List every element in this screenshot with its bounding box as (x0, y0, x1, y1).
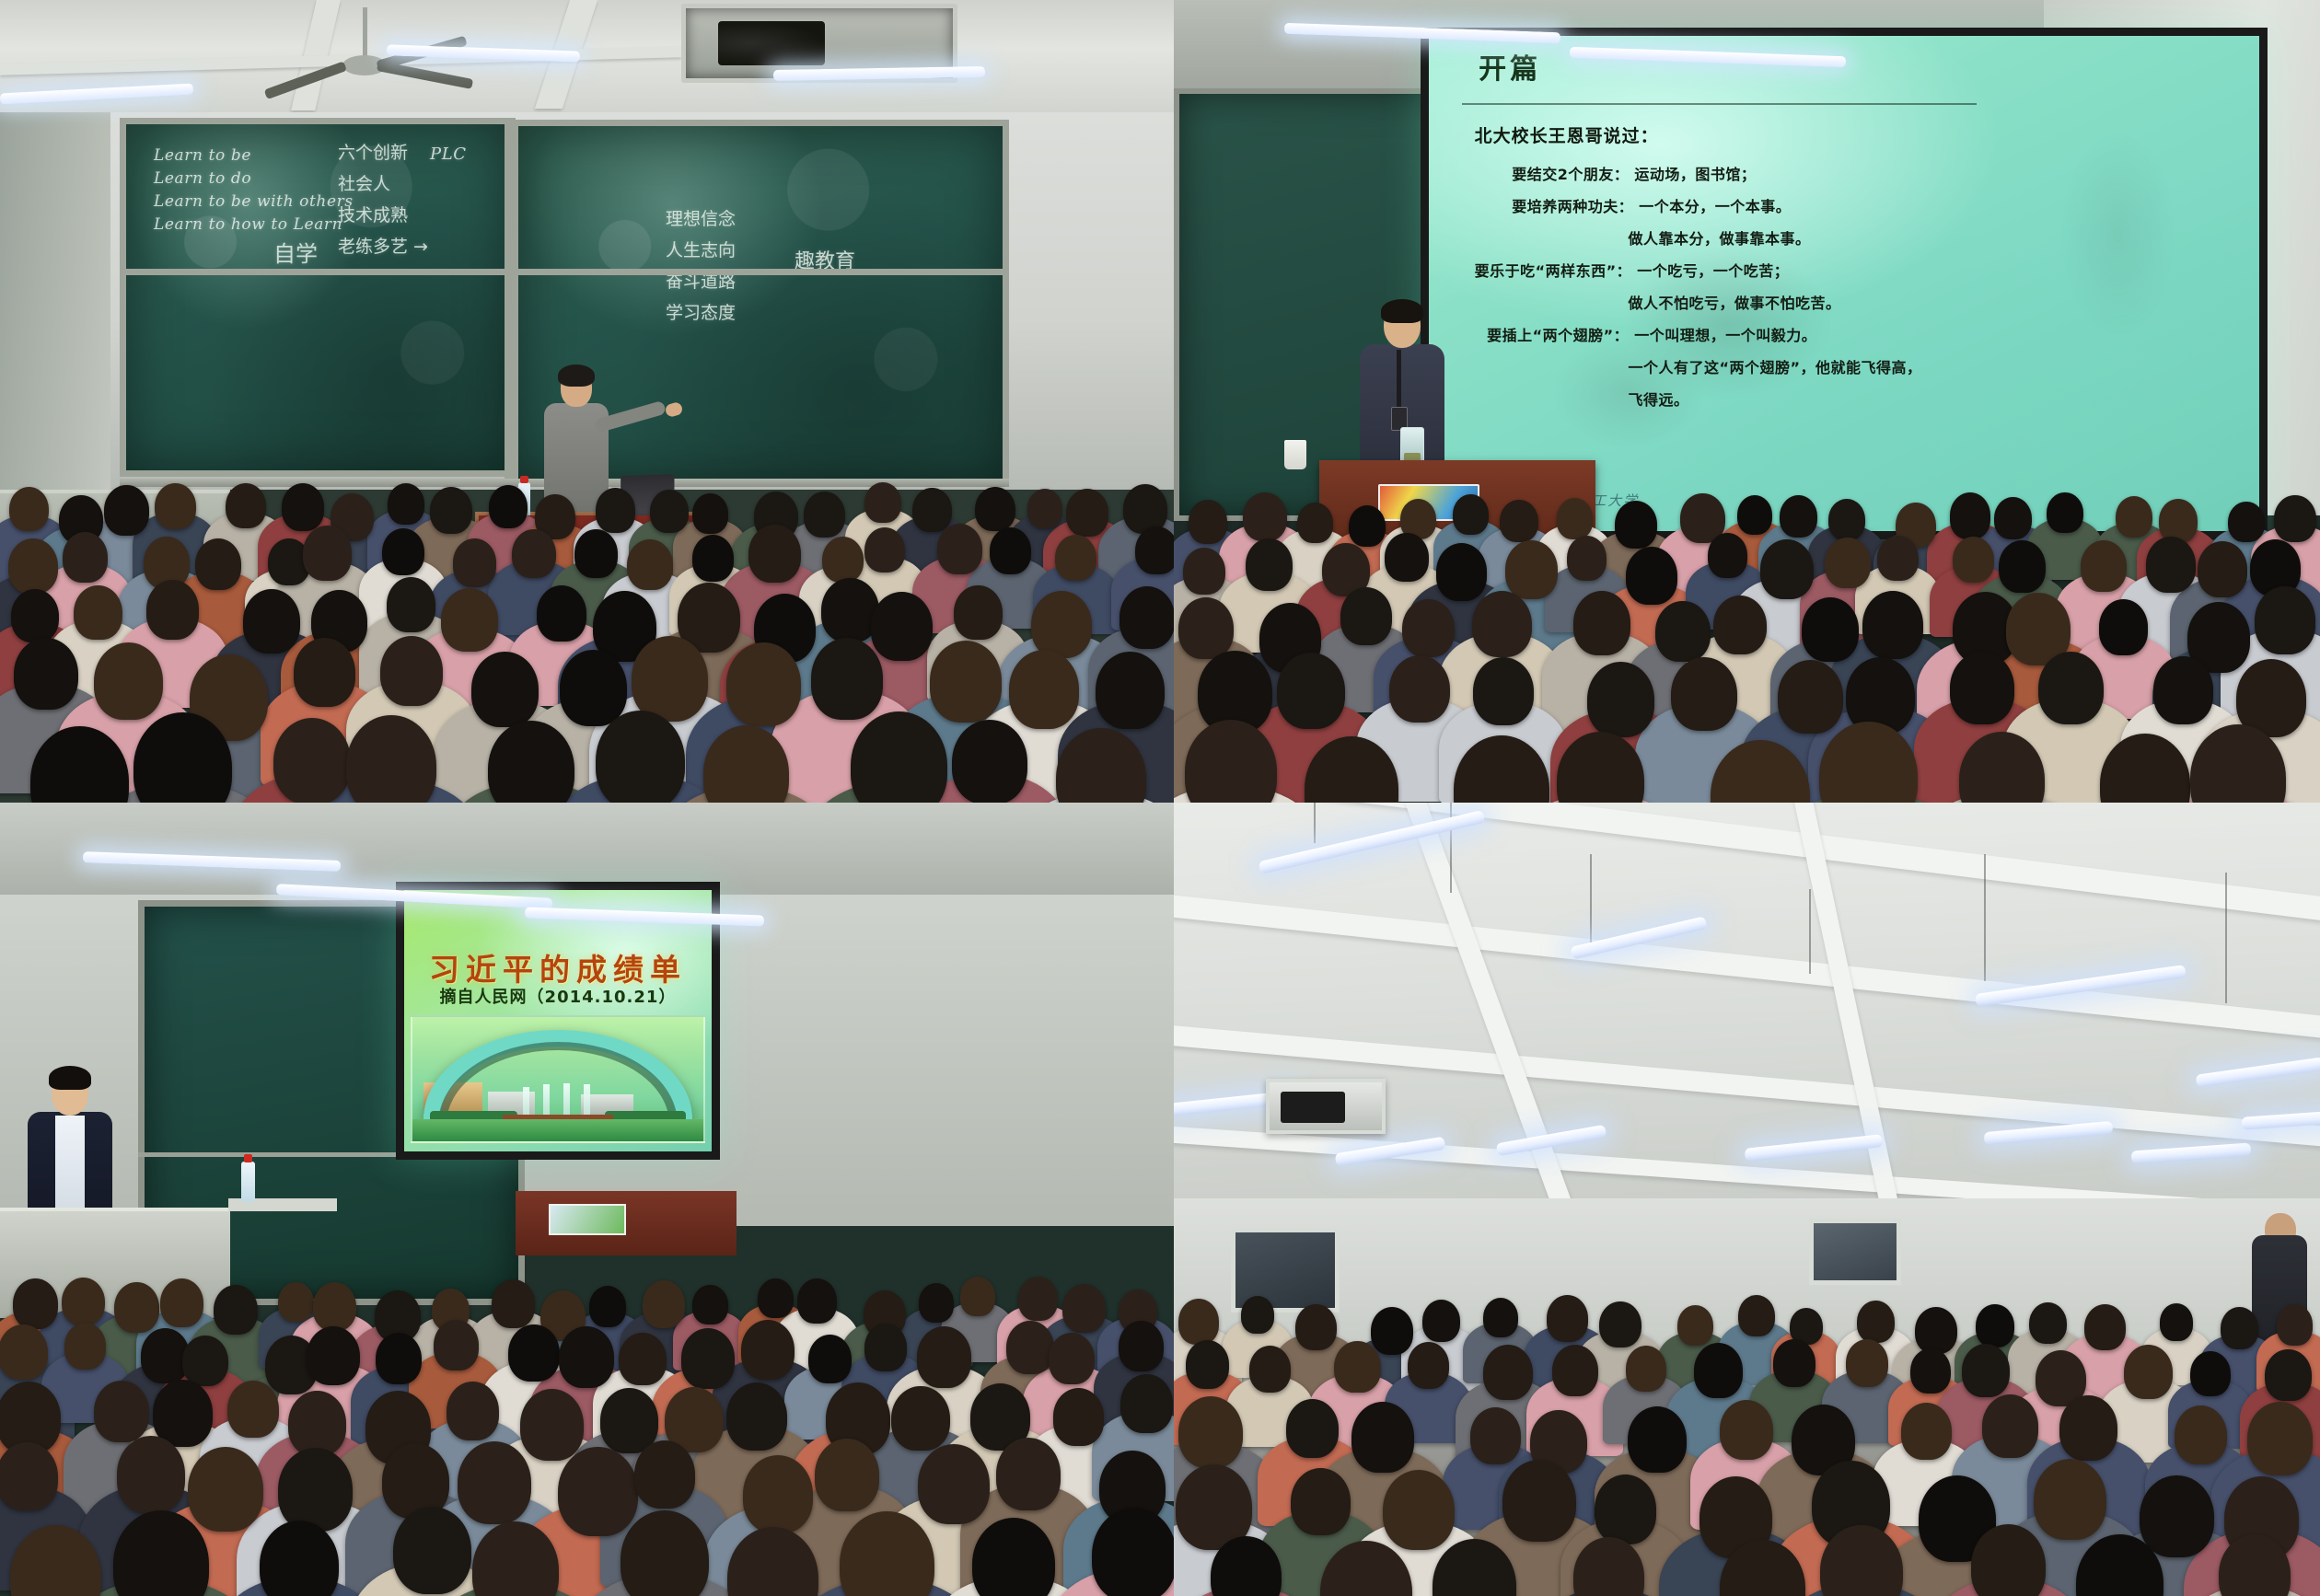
audience-member-head (2038, 652, 2104, 725)
board-frame-midrail (120, 269, 1009, 275)
audience-member-head (1027, 489, 1062, 528)
audience-member-head (153, 1380, 212, 1446)
audience-crowd (0, 1283, 1174, 1596)
audience-member-head (2247, 1402, 2314, 1475)
panel-bottom-right (1174, 803, 2320, 1596)
audience-member-head (1383, 1470, 1455, 1550)
audience-member-head (14, 638, 78, 710)
audience-member-head (1901, 1403, 1952, 1460)
audience-member-head (430, 487, 472, 535)
slide-line-5: 做人不怕吃亏，做事不怕吃苦。 (1628, 291, 1840, 313)
audience-member-head (441, 588, 498, 652)
audience-member-head (726, 642, 801, 725)
audience-member-head (2084, 1304, 2126, 1350)
audience-member-head (273, 718, 351, 803)
slide-line-7: 一个人有了这“两个翅膀”，他就能飞得高， (1628, 355, 1921, 377)
audience-member-head (2228, 502, 2265, 542)
audience-member-head (1760, 539, 1814, 599)
audience-member-head (1297, 503, 1334, 543)
audience-member-head (453, 538, 496, 586)
audience-member-head (864, 527, 905, 572)
audience-member-head (1178, 1299, 1219, 1345)
audience-member-head (891, 1386, 949, 1451)
audience-member-head (155, 483, 196, 529)
audience-member-head (243, 589, 300, 653)
audience-member-head (743, 1455, 813, 1533)
audience-member-head (558, 1447, 638, 1536)
audience-member-head (996, 1438, 1061, 1510)
audience-member-head (1877, 536, 1918, 581)
audience-member-head (1694, 1343, 1743, 1398)
audience-member-head (160, 1278, 203, 1327)
audience-member-head (188, 1447, 263, 1532)
audience-member-head (1671, 657, 1737, 731)
slide-line-4: 要乐于吃“两样东西”： 一个吃亏，一个吃苦； (1475, 259, 1790, 281)
audience-member-head (758, 1278, 794, 1318)
audience-member-head (2116, 496, 2152, 538)
audience-member-head (94, 1381, 149, 1442)
audience-member-head (1189, 500, 1228, 544)
audience-member-head (912, 488, 952, 532)
audience-member-head (1006, 1321, 1054, 1374)
audience-member-head (2265, 1349, 2311, 1401)
audience-member-head (387, 577, 436, 632)
audience-member-head (1186, 1340, 1229, 1388)
audience-member-head (726, 1382, 787, 1451)
slide-line-6: 要插上“两个翅膀”： 一个叫理想，一个叫毅力。 (1487, 323, 1816, 345)
audience-member-head (1557, 498, 1594, 539)
audience-member-head (1286, 1399, 1339, 1458)
audience-member-head (63, 532, 108, 583)
audience-member-head (2034, 1459, 2106, 1541)
audience-member-head (1453, 494, 1489, 534)
photo-collage: Learn to be Learn to do Learn to be with… (0, 0, 2320, 1596)
audience-member-head (1915, 1307, 1957, 1354)
panel-top-right: 开篇 北大校长王恩哥说过： 要结交2个朋友： 运动场，图书馆； 要培养两种功夫：… (1174, 0, 2320, 803)
audience-member-head (2059, 1395, 2118, 1461)
audience-member-head (1573, 591, 1630, 655)
slide-campus-photo (411, 1015, 706, 1143)
audience-member-head (918, 1444, 990, 1524)
slide-content: 开篇 北大校长王恩哥说过： 要结交2个朋友： 运动场，图书馆； 要培养两种功夫：… (1429, 36, 2259, 531)
audience-member-head (0, 1442, 58, 1510)
audience-member-head (1994, 497, 2032, 539)
audience-member-head (1950, 652, 2014, 724)
audience-member-head (1249, 1346, 1291, 1393)
audience-member-head (1402, 599, 1455, 657)
audience-member-head (537, 585, 586, 641)
audience-member-head (0, 1324, 48, 1380)
slide-lead-line: 北大校长王恩哥说过： (1475, 122, 1659, 147)
audience-member-head (1626, 1346, 1666, 1392)
audience-member-head (1049, 1333, 1095, 1384)
audience-member-head (1505, 540, 1558, 598)
audience-member-head (226, 483, 266, 528)
audience-member-head (1677, 1305, 1714, 1347)
audience-member-head (214, 1285, 258, 1335)
audience-member-head (808, 1335, 852, 1383)
audience-member-head (2081, 540, 2127, 592)
audience-member-head (2153, 656, 2214, 723)
audience-member-head (1009, 650, 1080, 729)
slide-title: 开篇 (1479, 46, 1541, 87)
audience-member-head (1595, 1475, 1656, 1544)
audience-member-head (1473, 657, 1535, 726)
audience-member-head (990, 527, 1031, 574)
slide-subtitle: 摘自人民网（2014.10.21） (404, 984, 712, 1008)
audience-member-head (741, 1320, 795, 1380)
audience-member-head (1483, 1298, 1519, 1337)
audience-member-head (508, 1324, 560, 1382)
audience-member-head (307, 1326, 360, 1386)
audience-member-head (1599, 1301, 1641, 1348)
audience-member-head (294, 638, 355, 707)
audience-member-head (1389, 655, 1450, 723)
audience-member-head (1277, 653, 1345, 729)
chalk-cn-r4: 老练多艺 → (338, 235, 428, 259)
audience-member-head (937, 524, 982, 574)
audience-member-head (382, 528, 424, 575)
audience-member-head (1846, 1339, 1889, 1387)
audience-member-head (1738, 1295, 1775, 1336)
photo-lawn (412, 1119, 704, 1141)
audience-member-head (520, 1389, 584, 1460)
audience-member-head (596, 711, 685, 803)
chalk-center-2: 人生志向 (666, 238, 736, 262)
audience-member-head (471, 652, 539, 726)
audience-member-head (1737, 495, 1772, 534)
audience-member-head (1587, 662, 1654, 737)
audience-member-head (619, 1333, 666, 1386)
slide-title: 习近平的成绩单 (404, 945, 712, 989)
audience-member-head (1828, 499, 1865, 540)
side-wall (0, 112, 110, 499)
audience-member-head (960, 1277, 995, 1316)
audience-member-head (681, 1328, 736, 1389)
audience-member-head (1334, 1341, 1381, 1394)
audience-member-head (1802, 597, 1859, 661)
chalk-line-en-3: Learn to be with others (154, 191, 354, 214)
audience-member-head (434, 1320, 479, 1370)
audience-member-head (1295, 1304, 1337, 1350)
audience-member-head (489, 485, 528, 528)
audience-member-head (288, 1391, 346, 1456)
audience-member-head (1825, 538, 1871, 589)
audience-member-head (1862, 591, 1922, 658)
audience-member-head (1092, 1508, 1174, 1596)
audience-member-head (643, 1280, 685, 1328)
slide-divider-rule (1462, 103, 1977, 105)
chalk-self-study: 自学 (273, 242, 318, 266)
paper-cup (1284, 440, 1306, 469)
chalk-center-4: 学习态度 (666, 301, 736, 325)
audience-member-head (458, 1441, 532, 1524)
audience-member-head (1720, 1400, 1773, 1460)
audience-member-head (1096, 652, 1165, 729)
audience-member-head (64, 1323, 106, 1370)
chalk-line-en-1: Learn to be (154, 145, 251, 168)
blackboard-left: Learn to be Learn to do Learn to be with… (120, 118, 516, 477)
audience-member-head (1408, 1342, 1449, 1388)
audience-member-head (2255, 586, 2315, 654)
audience-member-head (2274, 495, 2315, 542)
audience-member-head (632, 636, 708, 722)
audience-member-head (954, 585, 1003, 640)
audience-member-head (278, 1282, 314, 1322)
audience-member-head (1120, 1374, 1173, 1433)
ceiling-fan-rod (363, 7, 367, 61)
audience-member-head (2160, 1303, 2194, 1341)
audience-member-head (1055, 535, 1096, 581)
window (1809, 1219, 1901, 1285)
audience-member-head (1953, 537, 1994, 584)
audience-member-head (589, 1286, 626, 1327)
audience-member-head (1615, 501, 1657, 549)
audience-member-head (627, 539, 673, 591)
audience-member-head (1243, 492, 1287, 541)
audience-member-head (1291, 1468, 1351, 1535)
audience-member-head (871, 592, 933, 661)
audience-member-head (1950, 492, 1991, 538)
audience-member-head (393, 1507, 471, 1594)
ceiling-mounted-projector (1266, 1079, 1386, 1134)
audience-member-head (559, 1326, 614, 1388)
audience-member-head (2190, 1351, 2231, 1396)
audience-member-head (919, 1283, 954, 1323)
audience-member-head (748, 525, 800, 583)
audience-member-head (1018, 1277, 1058, 1321)
audience-member-head (574, 529, 618, 578)
audience-member-head (1655, 601, 1710, 662)
audience-member-head (811, 638, 884, 719)
audience-member-head (492, 1279, 535, 1328)
audience-member-head (1053, 1388, 1104, 1445)
audience-member-head (1780, 495, 1817, 538)
audience-member-head (1472, 591, 1532, 658)
audience-member-head (804, 492, 845, 538)
audience-member-head (388, 483, 424, 525)
audience-member-head (692, 535, 734, 582)
chalk-cn-r3: 技术成熟 (338, 203, 408, 227)
audience-member-head (1470, 1407, 1521, 1463)
audience-member-head (195, 538, 241, 590)
host (28, 1071, 112, 1226)
audience-member-head (864, 1324, 907, 1370)
audience-member-head (227, 1381, 278, 1438)
water-bottle (241, 1162, 255, 1202)
audience-member-head (692, 1285, 727, 1324)
audience-member-head (1371, 1307, 1413, 1355)
audience-member-head (104, 485, 149, 535)
audience-member-head (282, 483, 324, 531)
audience-member-head (634, 1440, 695, 1509)
audience-member-head (94, 642, 163, 720)
audience-member-head (62, 1278, 105, 1326)
audience-member-head (2124, 1345, 2173, 1399)
audience-member-head (952, 720, 1027, 803)
audience-member-head (1500, 500, 1537, 542)
audience-member-head (1351, 1402, 1415, 1473)
audience-member-head (1976, 1304, 2014, 1347)
audience-member-head (1999, 540, 2045, 593)
audience-member-head (2277, 1304, 2313, 1345)
panel-top-left: Learn to be Learn to do Learn to be with… (0, 0, 1174, 803)
audience-crowd (1174, 499, 2320, 803)
audience-member-head (117, 1436, 186, 1513)
audience-member-head (278, 1448, 353, 1532)
audience-member-head (1031, 591, 1092, 658)
audience-member-head (1349, 505, 1386, 547)
audience-member-head (1910, 1348, 1951, 1394)
audience-member-head (2198, 541, 2248, 597)
audience-member-head (13, 1278, 58, 1329)
audience-member-head (1066, 489, 1108, 536)
audience-member-head (1982, 1394, 2038, 1457)
audience-member-head (1708, 533, 1747, 577)
audience-member-head (1241, 1296, 1275, 1334)
audience-member-head (1436, 543, 1488, 600)
lecture-podium (516, 1191, 737, 1255)
audience-member-head (376, 1333, 422, 1384)
slide-line-3: 做人靠本分，做事靠本事。 (1628, 226, 1810, 249)
audience-member-head (2221, 1307, 2258, 1349)
audience-member-head (596, 488, 635, 533)
audience-member-head (2047, 492, 2082, 533)
slide-line-8: 飞得远。 (1628, 387, 1688, 410)
panel-bottom-left: 习近平的成绩单 摘自人民网（2014.10.21） (0, 803, 1174, 1596)
audience-member-head (1340, 587, 1392, 645)
audience-member-head (11, 589, 59, 642)
audience-member-head (1385, 533, 1428, 582)
audience-member-head (1178, 597, 1234, 659)
audience-member-head (146, 580, 199, 639)
audience-member-head (313, 1282, 356, 1331)
audience-member-head (822, 537, 864, 584)
audience-member-head (2140, 1475, 2213, 1558)
lanyard (1397, 350, 1401, 411)
audience-member-head (2175, 1405, 2227, 1464)
audience-member-head (692, 493, 728, 533)
audience-member-head (1483, 1345, 1533, 1400)
audience-member-head (1135, 526, 1174, 575)
audience-member-head (380, 636, 443, 706)
audience-member-head (917, 1326, 972, 1388)
audience-member-head (1178, 1396, 1243, 1468)
audience-member-head (975, 487, 1015, 532)
audience-member-head (1552, 1345, 1598, 1396)
audience-member-head (1422, 1300, 1460, 1342)
audience-member-head (1119, 586, 1174, 649)
audience-member-head (797, 1278, 838, 1324)
audience-member-head (930, 641, 1003, 722)
projection-screen: 习近平的成绩单 摘自人民网（2014.10.21） (396, 882, 720, 1160)
audience-member-head (8, 538, 58, 594)
board-frame-divider (505, 118, 516, 486)
host-hair (49, 1066, 91, 1090)
audience-member-head (815, 1439, 879, 1510)
speaker-hair (1381, 299, 1423, 323)
audience-member-head (303, 526, 352, 580)
chalk-cn-r1: 六个创新 (338, 141, 408, 165)
audience-member-head (2146, 537, 2196, 593)
audience-member-head (447, 1382, 499, 1440)
audience-member-head (1567, 536, 1607, 580)
audience-member-head (182, 1336, 228, 1387)
audience-member-head (512, 529, 556, 578)
audience-member-head (864, 482, 901, 523)
chalk-center-1: 理想信念 (666, 207, 736, 231)
audience-member-head (1183, 548, 1225, 595)
audience-member-head (1778, 660, 1844, 734)
audience-member-head (1773, 1339, 1815, 1387)
lecturer-hair (558, 364, 595, 387)
podium-sign (549, 1204, 626, 1235)
audience-member-head (2099, 599, 2149, 654)
audience-member-head (1626, 547, 1677, 605)
chalk-line-en-4: Learn to how to Learn (154, 214, 342, 237)
chalk-line-en-2: Learn to do (154, 168, 251, 191)
chalk-cn-r2: 社会人 (338, 172, 390, 196)
slide-line-2: 要培养两种功夫： 一个本分，一个本事。 (1512, 194, 1791, 216)
audience-member-head (74, 585, 122, 640)
audience-member-head (9, 487, 49, 531)
audience-member-head (1628, 1406, 1687, 1473)
host-shirt (55, 1116, 85, 1215)
audience-crowd (0, 490, 1174, 803)
audience-member-head (1502, 1460, 1576, 1542)
audience-member-head (1962, 1344, 2010, 1397)
audience-member-head (1857, 1301, 1895, 1343)
chalk-abbrev: PLC (430, 143, 467, 166)
audience-member-head (1246, 538, 1293, 591)
audience-member-head (1062, 1284, 1106, 1333)
audience-member-head (1713, 596, 1767, 655)
audience-member-head (560, 650, 628, 725)
audience-member-head (650, 490, 689, 533)
audience-member-head (1547, 1295, 1588, 1342)
audience-member-head (2029, 1302, 2067, 1345)
slide-line-1: 要结交2个朋友： 运动场，图书馆； (1512, 162, 1756, 184)
audience-member-head (114, 1282, 159, 1333)
audience-member-head (1119, 1321, 1164, 1371)
audience-crowd (1174, 1292, 2320, 1596)
